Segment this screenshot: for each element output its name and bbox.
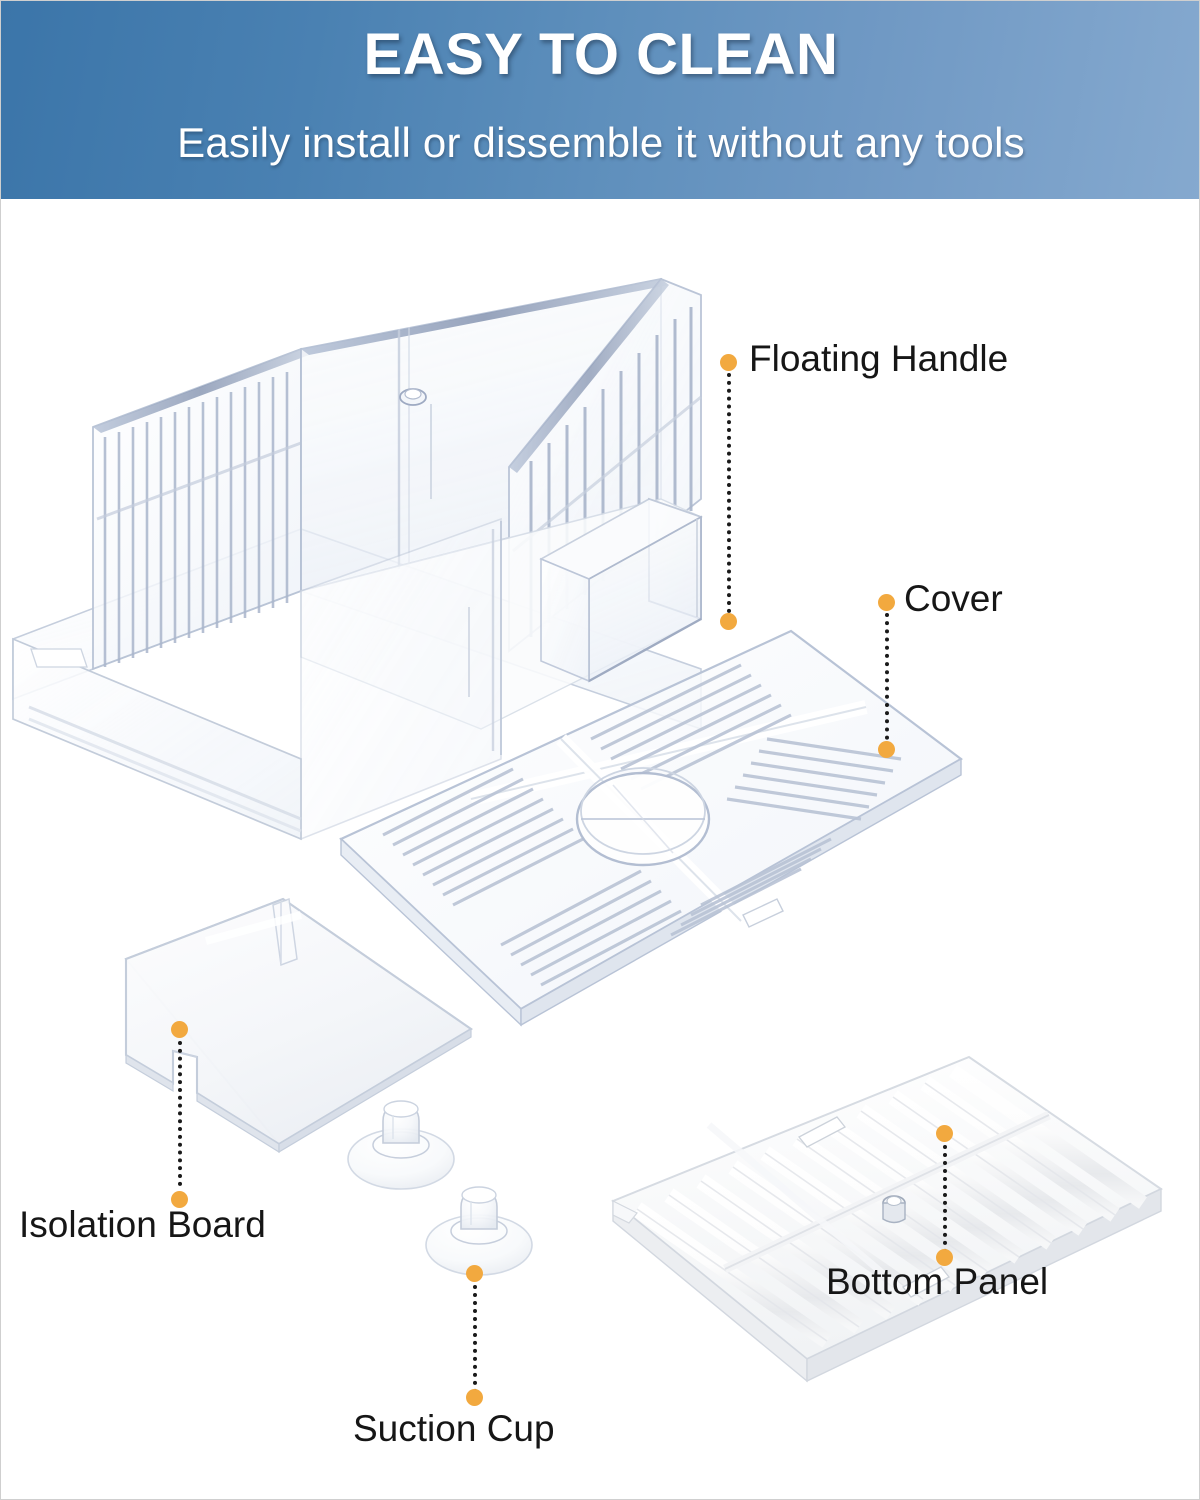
callout-leader-isolation-board [178, 1041, 182, 1186]
callout-leader-cover [885, 613, 889, 748]
callout-dot-isolation-board-part [171, 1021, 188, 1038]
part-suction-cup-lower [426, 1187, 532, 1275]
callout-label-suction-cup: Suction Cup [353, 1408, 555, 1450]
callout-leader-suction-cup [473, 1285, 477, 1393]
callout-dot-suction-cup-part [466, 1265, 483, 1282]
callout-dot-bottom-panel-part [936, 1125, 953, 1142]
callout-dot-cover [878, 594, 895, 611]
product-exploded-illustration [1, 199, 1200, 1500]
callout-leader-bottom-panel [943, 1145, 947, 1253]
callout-dot-floating-handle-part [720, 613, 737, 630]
part-bottom-panel [613, 1057, 1161, 1381]
callout-dot-suction-cup [466, 1389, 483, 1406]
callout-dot-cover-part [878, 741, 895, 758]
callout-label-cover: Cover [904, 578, 1003, 620]
page-subtitle: Easily install or dissemble it without a… [1, 119, 1200, 167]
infographic-page: EASY TO CLEAN Easily install or dissembl… [0, 0, 1200, 1500]
callout-label-bottom-panel: Bottom Panel [826, 1261, 1048, 1303]
header-banner: EASY TO CLEAN Easily install or dissembl… [1, 1, 1200, 199]
callout-label-floating-handle: Floating Handle [749, 338, 1008, 380]
callout-label-isolation-board: Isolation Board [19, 1204, 266, 1246]
callout-dot-floating-handle [720, 354, 737, 371]
page-title: EASY TO CLEAN [1, 21, 1200, 88]
part-suction-cup-upper [348, 1101, 454, 1189]
callout-leader-floating-handle [727, 373, 731, 621]
